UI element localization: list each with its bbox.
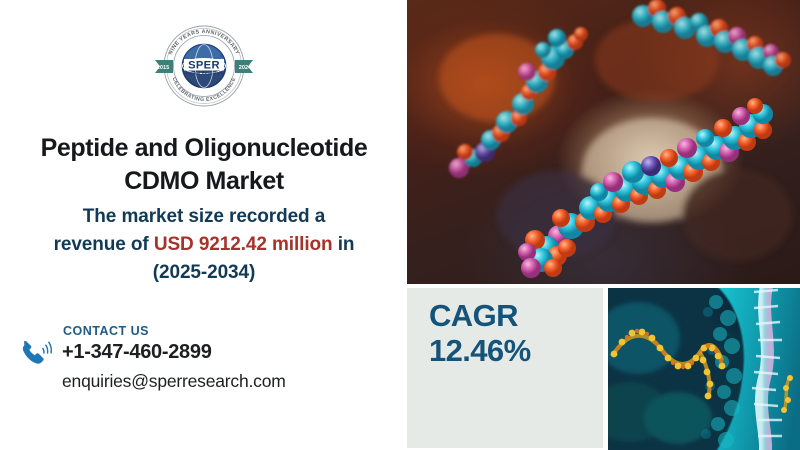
market-size-statement: The market size recorded a revenue of US… bbox=[14, 203, 394, 287]
ringing-phone-icon bbox=[18, 332, 58, 372]
brand-logo: NINE YEARS ANNIVERSARY CELEBRATING EXCEL… bbox=[0, 24, 407, 108]
contact-email-address[interactable]: enquiries@sperresearch.com bbox=[62, 371, 286, 392]
contact-us-label: CONTACT US bbox=[63, 324, 149, 338]
marketing-banner: NINE YEARS ANNIVERSARY CELEBRATING EXCEL… bbox=[0, 0, 800, 450]
badge-brand-tagline: Market Research bbox=[186, 71, 222, 76]
contact-block: CONTACT US +1-347-460-2899 enquiries@spe… bbox=[18, 324, 407, 420]
left-content-panel: NINE YEARS ANNIVERSARY CELEBRATING EXCEL… bbox=[0, 0, 407, 450]
contact-phone-number[interactable]: +1-347-460-2899 bbox=[62, 341, 212, 364]
anniversary-badge-icon: NINE YEARS ANNIVERSARY CELEBRATING EXCEL… bbox=[151, 24, 257, 108]
oligonucleotide-cell-image bbox=[608, 288, 800, 450]
subhead-prefix: revenue of bbox=[54, 234, 154, 255]
cagr-label: CAGR bbox=[429, 298, 518, 334]
badge-year-end: 2024 bbox=[238, 65, 251, 71]
page-title: Peptide and Oligonucleotide CDMO Market bbox=[14, 132, 394, 198]
market-revenue-value: USD 9212.42 million bbox=[154, 234, 333, 255]
peptide-molecule-image bbox=[407, 0, 800, 284]
forecast-period: (2025-2034) bbox=[153, 262, 255, 283]
badge-brand-name: SPER bbox=[188, 59, 220, 71]
cagr-value: 12.46% bbox=[429, 333, 531, 369]
title-line-2: CDMO Market bbox=[14, 165, 394, 198]
subhead-line-1: The market size recorded a bbox=[83, 206, 325, 227]
badge-year-start: 2015 bbox=[156, 65, 168, 71]
cagr-panel: CAGR 12.46% bbox=[407, 288, 603, 448]
title-line-1: Peptide and Oligonucleotide bbox=[41, 134, 368, 162]
subhead-suffix: in bbox=[333, 234, 355, 255]
